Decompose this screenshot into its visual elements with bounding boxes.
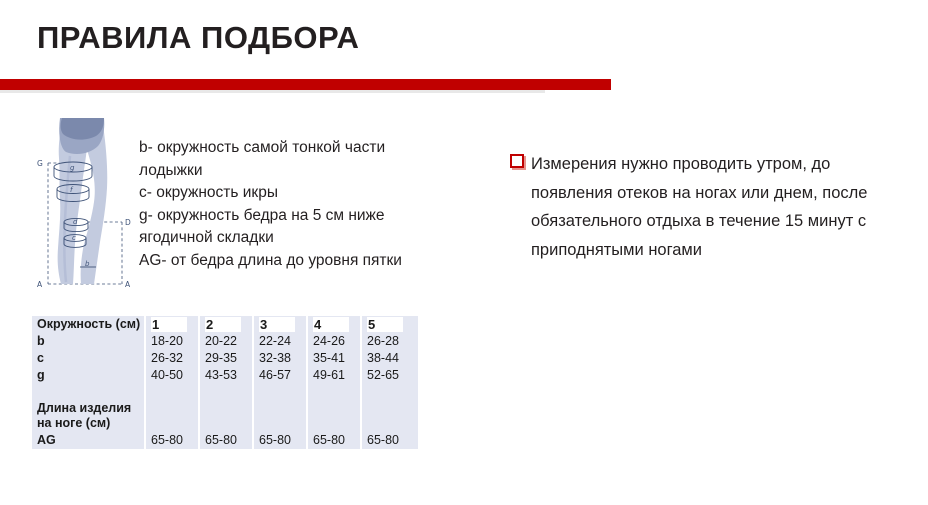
- leg-diagram-svg: g f d c b G A D A: [32, 112, 132, 297]
- label-D: D: [125, 218, 131, 227]
- header-col-2: 2: [200, 316, 254, 333]
- spacer-cell: [32, 384, 146, 400]
- size-table-wrapper: Окружность (см) 1 2 3 4 5 b 18-20 20-22 …: [32, 316, 418, 449]
- cell-c-1: 26-32: [146, 350, 200, 367]
- section-cell-4: [308, 400, 362, 432]
- cell-c-5: 38-44: [362, 350, 418, 367]
- mark-d: d: [73, 218, 78, 226]
- table-spacer-row: [32, 384, 418, 400]
- cell-b-5: 26-28: [362, 333, 418, 350]
- cell-c-2: 29-35: [200, 350, 254, 367]
- spacer-cell: [362, 384, 418, 400]
- cell-ag-5: 65-80: [362, 432, 418, 449]
- table-section-row: Длина изделия на ноге (см): [32, 400, 418, 432]
- mark-b: b: [85, 260, 90, 268]
- cell-ag-2: 65-80: [200, 432, 254, 449]
- cell-c-3: 32-38: [254, 350, 308, 367]
- legend-line-4: AG- от бедра длина до уровня пятки: [139, 250, 439, 273]
- row-label-ag: AG: [32, 432, 146, 449]
- cell-g-4: 49-61: [308, 367, 362, 384]
- cell-b-1: 18-20: [146, 333, 200, 350]
- table-row: AG 65-80 65-80 65-80 65-80 65-80: [32, 432, 418, 449]
- header-col-4: 4: [308, 316, 362, 333]
- slide-root: ПРАВИЛА ПОДБОРА: [0, 0, 928, 505]
- table-row: g 40-50 43-53 46-57 49-61 52-65: [32, 367, 418, 384]
- cell-g-1: 40-50: [146, 367, 200, 384]
- header-col-1: 1: [146, 316, 200, 333]
- section-cell-5: [362, 400, 418, 432]
- note-text: Измерения нужно проводить утром, до появ…: [509, 150, 909, 264]
- spacer-cell: [200, 384, 254, 400]
- table-header-row: Окружность (см) 1 2 3 4 5: [32, 316, 418, 333]
- label-G: G: [37, 159, 43, 168]
- cell-c-4: 35-41: [308, 350, 362, 367]
- legend-line-1: b- окружность самой тонкой части лодыжки: [139, 137, 439, 182]
- cell-b-2: 20-22: [200, 333, 254, 350]
- mark-c: c: [72, 234, 76, 242]
- page-title: ПРАВИЛА ПОДБОРА: [37, 18, 359, 58]
- cell-ag-1: 65-80: [146, 432, 200, 449]
- mark-g: g: [70, 164, 75, 172]
- section-cell-1: [146, 400, 200, 432]
- accent-rule-shadow: [0, 90, 545, 93]
- size-table: Окружность (см) 1 2 3 4 5 b 18-20 20-22 …: [32, 316, 418, 449]
- row-label-g: g: [32, 367, 146, 384]
- table-row: c 26-32 29-35 32-38 35-41 38-44: [32, 350, 418, 367]
- legend-line-3: g- окружность бедра на 5 см ниже ягодичн…: [139, 205, 439, 250]
- cell-ag-3: 65-80: [254, 432, 308, 449]
- table-row: b 18-20 20-22 22-24 24-26 26-28: [32, 333, 418, 350]
- section-label: Длина изделия на ноге (см): [32, 400, 146, 432]
- accent-rule: [0, 79, 611, 90]
- cell-b-4: 24-26: [308, 333, 362, 350]
- cell-g-5: 52-65: [362, 367, 418, 384]
- legend-line-2: c- окружность икры: [139, 182, 439, 205]
- section-cell-2: [200, 400, 254, 432]
- label-A-right: A: [125, 280, 131, 289]
- header-label: Окружность (см): [32, 316, 146, 333]
- measurement-legend: b- окружность самой тонкой части лодыжки…: [139, 137, 439, 273]
- row-label-c: c: [32, 350, 146, 367]
- spacer-cell: [254, 384, 308, 400]
- cell-ag-4: 65-80: [308, 432, 362, 449]
- measurement-note: Измерения нужно проводить утром, до появ…: [509, 150, 909, 264]
- square-bullet-icon: [510, 154, 524, 168]
- cell-b-3: 22-24: [254, 333, 308, 350]
- cell-g-2: 43-53: [200, 367, 254, 384]
- header-col-5: 5: [362, 316, 418, 333]
- spacer-cell: [146, 384, 200, 400]
- row-label-b: b: [32, 333, 146, 350]
- cell-g-3: 46-57: [254, 367, 308, 384]
- spacer-cell: [308, 384, 362, 400]
- label-A-left: A: [37, 280, 43, 289]
- section-cell-3: [254, 400, 308, 432]
- header-col-3: 3: [254, 316, 308, 333]
- leg-measurement-diagram: g f d c b G A D A: [32, 112, 132, 297]
